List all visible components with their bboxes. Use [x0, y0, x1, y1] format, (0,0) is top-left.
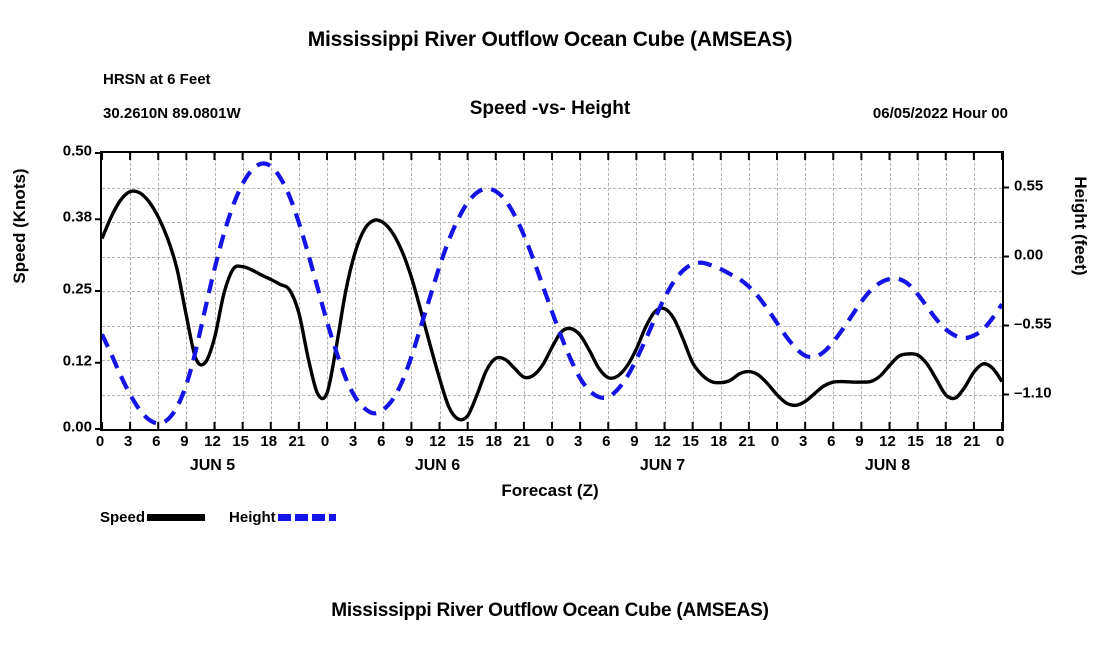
chart-legend: SpeedHeight — [100, 506, 360, 528]
legend-swatch-solid — [147, 514, 205, 521]
y-axis-left-ticks: 0.000.120.250.380.50 — [22, 151, 92, 427]
x-axis-title: Forecast (Z) — [100, 481, 1000, 501]
y-tick-label-left: 0.38 — [30, 209, 92, 226]
legend-item-height: Height — [229, 509, 336, 526]
page-title: Mississippi River Outflow Ocean Cube (AM… — [0, 28, 1100, 52]
legend-item-speed: Speed — [100, 509, 205, 526]
x-axis-day-label: JUN 8 — [828, 457, 948, 475]
y-tick-label-left: 0.50 — [30, 143, 92, 160]
y-tick-label-right: 0.00 — [1014, 246, 1076, 263]
y-tick-label-right: –0.55 — [1014, 315, 1076, 332]
y-tick-label-left: 0.12 — [30, 352, 92, 369]
y-axis-left-title: Speed (Knots) — [10, 116, 30, 336]
y-tick-label-right: –1.10 — [1014, 384, 1076, 401]
plot-area — [100, 151, 1004, 431]
y-tick-label-left: 0.25 — [30, 281, 92, 298]
chart-page: Mississippi River Outflow Ocean Cube (AM… — [0, 0, 1100, 650]
x-axis-day-label: JUN 5 — [153, 457, 273, 475]
x-axis-day-labels: JUN 5JUN 6JUN 7JUN 8 — [100, 457, 1000, 481]
legend-label: Speed — [100, 509, 145, 526]
y-tick-label-right: 0.55 — [1014, 177, 1076, 194]
x-axis-day-label: JUN 6 — [378, 457, 498, 475]
legend-swatch-dashed — [278, 514, 336, 521]
forecast-datestamp: 06/05/2022 Hour 00 — [873, 105, 1008, 122]
x-axis-day-label: JUN 7 — [603, 457, 723, 475]
plot-inner — [102, 153, 1002, 429]
axis-tick-marks — [102, 153, 1002, 429]
station-label: HRSN at 6 Feet — [103, 71, 211, 88]
x-axis-ticks: 0369121518210369121518210369121518210369… — [100, 433, 1000, 455]
x-tick-label: 0 — [980, 433, 1020, 450]
y-axis-right-title: Height (feet) — [1070, 116, 1090, 336]
legend-label: Height — [229, 509, 276, 526]
footer-title: Mississippi River Outflow Ocean Cube (AM… — [0, 600, 1100, 622]
